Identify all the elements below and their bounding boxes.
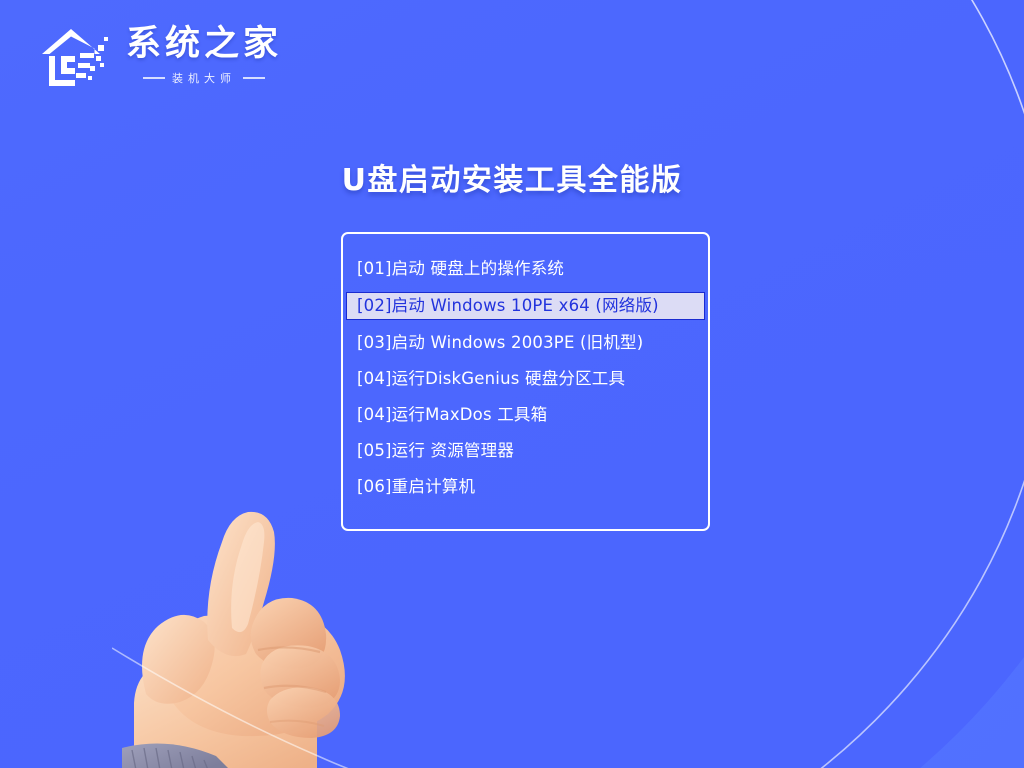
brand-tagline-row: 装机大师 bbox=[143, 70, 265, 86]
house-pixel-logo-icon bbox=[38, 18, 112, 92]
tagline-dash-left bbox=[143, 77, 165, 79]
menu-item-04-diskgenius[interactable]: [04]运行DiskGenius 硬盘分区工具 bbox=[347, 366, 704, 392]
brand-tagline: 装机大师 bbox=[172, 70, 236, 86]
brand-name: 系统之家 bbox=[126, 26, 282, 63]
boot-menu-screen: 系统之家 装机大师 U盘启动安装工具全能版 [01]启动 硬盘上的操作系统 [0… bbox=[0, 0, 1024, 768]
menu-item-06[interactable]: [06]重启计算机 bbox=[347, 474, 704, 500]
tagline-dash-right bbox=[243, 77, 265, 79]
brand-logo: 系统之家 装机大师 bbox=[38, 18, 282, 92]
menu-item-01[interactable]: [01]启动 硬盘上的操作系统 bbox=[347, 256, 704, 282]
boot-menu-box: [01]启动 硬盘上的操作系统 [02]启动 Windows 10PE x64 … bbox=[341, 232, 710, 531]
brand-text: 系统之家 装机大师 bbox=[126, 24, 282, 86]
pointing-hand-illustration bbox=[112, 498, 412, 768]
page-title: U盘启动安装工具全能版 bbox=[0, 155, 1024, 199]
menu-item-05[interactable]: [05]运行 资源管理器 bbox=[347, 438, 704, 464]
menu-item-02[interactable]: [02]启动 Windows 10PE x64 (网络版) bbox=[346, 292, 705, 320]
menu-item-03[interactable]: [03]启动 Windows 2003PE (旧机型) bbox=[347, 330, 704, 356]
menu-item-04-maxdos[interactable]: [04]运行MaxDos 工具箱 bbox=[347, 402, 704, 428]
